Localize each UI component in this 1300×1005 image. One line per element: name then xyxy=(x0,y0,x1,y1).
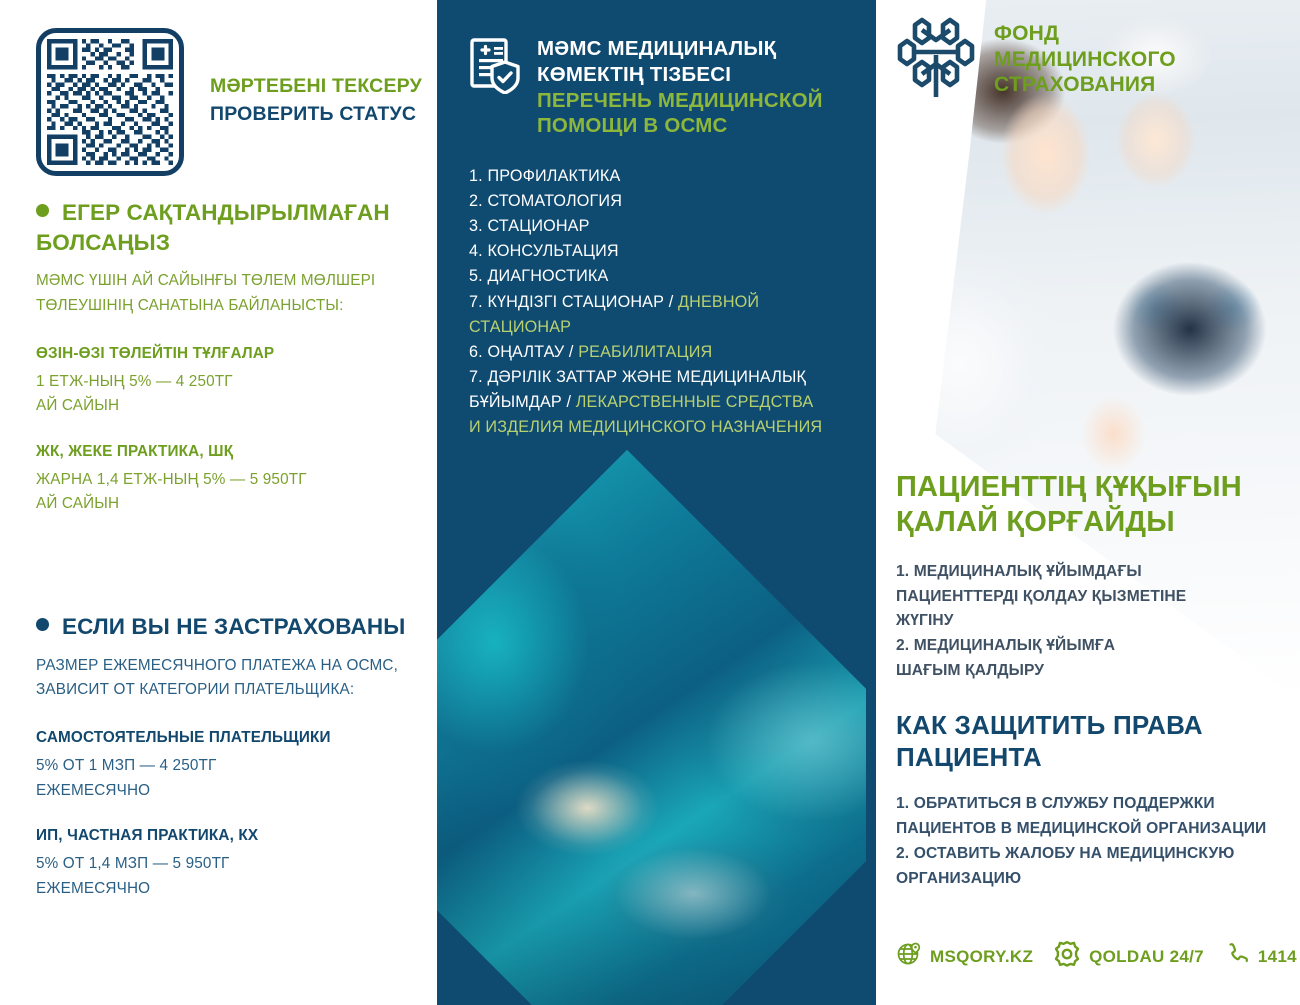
left-panel: МӘРТЕБЕНІ ТЕКСЕРУ ПРОВЕРИТЬ СТАТУС ЕГЕР … xyxy=(0,0,437,1005)
list-item-main: 5. ДИАГНОСТИКА xyxy=(469,267,608,285)
list-item: ПАЦИЕНТТЕРДІ ҚОЛДАУ ҚЫЗМЕТІНЕ xyxy=(896,585,1286,610)
section-heading-kk: ЕГЕР САҚТАНДЫРЫЛМАҒАН БОЛСАҢЫЗ xyxy=(36,198,428,257)
list-item: 7. ДӘРІЛІК ЗАТТАР ЖӘНЕ МЕДИЦИНАЛЫҚ xyxy=(469,365,859,390)
list-item-main: 3. СТАЦИОНАР xyxy=(469,217,590,235)
payment-group-period: ЕЖЕМЕСЯЧНО xyxy=(36,779,428,803)
fund-logo-line2: МЕДИЦИНСКОГО xyxy=(994,47,1176,73)
qr-labels: МӘРТЕБЕНІ ТЕКСЕРУ ПРОВЕРИТЬ СТАТУС xyxy=(210,72,422,133)
list-item-main: 6. ОҢАЛТАУ / xyxy=(469,343,578,361)
bullet-dot-icon xyxy=(36,618,49,631)
center-title-ru-line1: ПЕРЕЧЕНЬ МЕДИЦИНСКОЙ xyxy=(537,88,823,114)
payment-group-amount: 5% ОТ 1 МЗП — 4 250ТГ xyxy=(36,754,428,778)
list-item: ШАҒЫМ ҚАЛДЫРУ xyxy=(896,659,1286,684)
patient-rights-list-ru: 1. ОБРАТИТЬСЯ В СЛУЖБУ ПОДДЕРЖКИ ПАЦИЕНТ… xyxy=(896,792,1286,892)
center-panel-header: МӘМС МЕДИЦИНАЛЫҚ КӨМЕКТІҢ ТІЗБЕСІ ПЕРЕЧЕ… xyxy=(469,36,849,139)
list-item-alt: РЕАБИЛИТАЦИЯ xyxy=(578,343,712,361)
payment-group-title: САМОСТОЯТЕЛЬНЫЕ ПЛАТЕЛЬЩИКИ xyxy=(36,729,428,747)
medical-services-list: 1. ПРОФИЛАКТИКА 2. СТОМАТОЛОГИЯ 3. СТАЦИ… xyxy=(469,164,859,440)
qr-status-block: МӘРТЕБЕНІ ТЕКСЕРУ ПРОВЕРИТЬ СТАТУС xyxy=(36,28,422,176)
list-item: 7. КҮНДІЗГІ СТАЦИОНАР / ДНЕВНОЙ СТАЦИОНА… xyxy=(469,290,859,340)
contact-phone-label: 1414 xyxy=(1258,947,1297,967)
payment-group: САМОСТОЯТЕЛЬНЫЕ ПЛАТЕЛЬЩИКИ 5% ОТ 1 МЗП … xyxy=(36,729,428,803)
payment-group-period: АЙ САЙЫН xyxy=(36,394,428,418)
surgery-photo xyxy=(437,450,866,1005)
list-item: 1. ОБРАТИТЬСЯ В СЛУЖБУ ПОДДЕРЖКИ xyxy=(896,792,1286,817)
payment-group: ӨЗІН-ӨЗІ ТӨЛЕЙТІН ТҰЛҒАЛАР 1 ЕТЖ-НЫҢ 5% … xyxy=(36,345,428,419)
brochure-page: МӘРТЕБЕНІ ТЕКСЕРУ ПРОВЕРИТЬ СТАТУС ЕГЕР … xyxy=(0,0,1300,1005)
payment-group-title: ӨЗІН-ӨЗІ ТӨЛЕЙТІН ТҰЛҒАЛАР xyxy=(36,345,428,363)
fund-logo-line1: ФОНД xyxy=(994,21,1176,47)
bullet-dot-icon xyxy=(36,204,49,217)
list-item: ОРГАНИЗАЦИЮ xyxy=(896,867,1286,892)
center-title-kk-line1: МӘМС МЕДИЦИНАЛЫҚ xyxy=(537,36,823,62)
payment-group-title: ЖК, ЖЕКЕ ПРАКТИКА, ШҚ xyxy=(36,443,428,461)
list-item: ЖҮГІНУ xyxy=(896,609,1286,634)
fund-logo-line3: СТРАХОВАНИЯ xyxy=(994,72,1176,98)
list-item: 4. КОНСУЛЬТАЦИЯ xyxy=(469,239,859,264)
center-title-ru-line2: ПОМОЩИ В ОСМС xyxy=(537,113,823,139)
list-item: 2. МЕДИЦИНАЛЫҚ ҰЙЫМҒА xyxy=(896,634,1286,659)
list-item-main: 7. КҮНДІЗГІ СТАЦИОНАР / xyxy=(469,293,678,311)
payment-group-period: АЙ САЙЫН xyxy=(36,492,428,516)
uninsured-section-ru: ЕСЛИ ВЫ НЕ ЗАСТРАХОВАНЫ РАЗМЕР ЕЖЕМЕСЯЧН… xyxy=(36,612,428,925)
list-item-main: 1. ПРОФИЛАКТИКА xyxy=(469,167,620,185)
list-item: 2. СТОМАТОЛОГИЯ xyxy=(469,189,859,214)
list-item: 2. ОСТАВИТЬ ЖАЛОБУ НА МЕДИЦИНСКУЮ xyxy=(896,842,1286,867)
right-panel-edge-strip xyxy=(866,0,876,1005)
phone-icon xyxy=(1224,941,1250,972)
contact-footer: MSQORY.KZ QOLDAU 24/7 1414 xyxy=(896,940,1300,973)
list-item: 1. ПРОФИЛАКТИКА xyxy=(469,164,859,189)
list-item-main: 2. СТОМАТОЛОГИЯ xyxy=(469,192,622,210)
center-title-kk-line2: КӨМЕКТІҢ ТІЗБЕСІ xyxy=(537,62,823,88)
qr-code-icon[interactable] xyxy=(36,28,184,176)
contact-website[interactable]: MSQORY.KZ xyxy=(896,941,1033,972)
list-item: 1. МЕДИЦИНАЛЫҚ ҰЙЫМДАҒЫ xyxy=(896,560,1286,585)
payment-group: ЖК, ЖЕКЕ ПРАКТИКА, ШҚ ЖАРНА 1,4 ЕТЖ-НЫҢ … xyxy=(36,443,428,517)
center-panel: МӘМС МЕДИЦИНАЛЫҚ КӨМЕКТІҢ ТІЗБЕСІ ПЕРЕЧЕ… xyxy=(437,0,866,1005)
section-heading-ru: ЕСЛИ ВЫ НЕ ЗАСТРАХОВАНЫ xyxy=(36,612,428,642)
contact-support[interactable]: QOLDAU 24/7 xyxy=(1053,940,1204,973)
patient-rights-list-kk: 1. МЕДИЦИНАЛЫҚ ҰЙЫМДАҒЫ ПАЦИЕНТТЕРДІ ҚОЛ… xyxy=(896,560,1286,685)
globe-icon xyxy=(896,941,922,972)
contact-support-label: QOLDAU 24/7 xyxy=(1089,947,1204,967)
list-item-main: БҰЙЫМДАР / xyxy=(469,393,576,411)
surgery-photo-image xyxy=(437,450,866,1005)
list-item-alt: И ИЗДЕЛИЯ МЕДИЦИНСКОГО НАЗНАЧЕНИЯ xyxy=(469,418,822,436)
payment-group-period: ЕЖЕМЕСЯЧНО xyxy=(36,877,428,901)
qr-label-kk: МӘРТЕБЕНІ ТЕКСЕРУ xyxy=(210,72,422,100)
list-item: БҰЙЫМДАР / ЛЕКАРСТВЕННЫЕ СРЕДСТВА xyxy=(469,390,859,415)
payment-group-title: ИП, ЧАСТНАЯ ПРАКТИКА, КХ xyxy=(36,827,428,845)
uninsured-section-kk: ЕГЕР САҚТАНДЫРЫЛМАҒАН БОЛСАҢЫЗ МӘМС ҮШІН… xyxy=(36,198,428,541)
patient-rights-block: ПАЦИЕНТТІҢ ҚҰҚЫҒЫН ҚАЛАЙ ҚОРҒАЙДЫ 1. МЕД… xyxy=(896,470,1286,891)
payment-group-amount: 5% ОТ 1,4 МЗП — 5 950ТГ xyxy=(36,852,428,876)
contact-website-label: MSQORY.KZ xyxy=(930,947,1033,967)
payment-group-amount: 1 ЕТЖ-НЫҢ 5% — 4 250ТГ xyxy=(36,370,428,394)
contact-phone[interactable]: 1414 xyxy=(1224,941,1297,972)
payment-group-amount: ЖАРНА 1,4 ЕТЖ-НЫҢ 5% — 5 950ТГ xyxy=(36,468,428,492)
qr-label-ru: ПРОВЕРИТЬ СТАТУС xyxy=(210,100,422,128)
section-heading-kk-text: ЕГЕР САҚТАНДЫРЫЛМАҒАН БОЛСАҢЫЗ xyxy=(36,200,390,255)
medical-document-shield-icon xyxy=(469,38,521,99)
fund-logo-text: ФОНД МЕДИЦИНСКОГО СТРАХОВАНИЯ xyxy=(994,21,1176,98)
list-item: И ИЗДЕЛИЯ МЕДИЦИНСКОГО НАЗНАЧЕНИЯ xyxy=(469,415,859,440)
list-item-main: 7. ДӘРІЛІК ЗАТТАР ЖӘНЕ МЕДИЦИНАЛЫҚ xyxy=(469,368,806,386)
list-item: ПАЦИЕНТОВ В МЕДИЦИНСКОЙ ОРГАНИЗАЦИИ xyxy=(896,817,1286,842)
list-item-main: 4. КОНСУЛЬТАЦИЯ xyxy=(469,242,619,260)
section-intro-ru: РАЗМЕР ЕЖЕМЕСЯЧНОГО ПЛАТЕЖА НА ОСМС, ЗАВ… xyxy=(36,654,428,704)
right-panel: ФОНД МЕДИЦИНСКОГО СТРАХОВАНИЯ ПАЦИЕНТТІҢ… xyxy=(866,0,1300,1005)
fund-snowflake-logo-icon xyxy=(896,14,976,105)
section-heading-ru-text: ЕСЛИ ВЫ НЕ ЗАСТРАХОВАНЫ xyxy=(62,614,405,639)
list-item-alt: ЛЕКАРСТВЕННЫЕ СРЕДСТВА xyxy=(576,393,814,411)
list-item: 6. ОҢАЛТАУ / РЕАБИЛИТАЦИЯ xyxy=(469,340,859,365)
list-item: 3. СТАЦИОНАР xyxy=(469,214,859,239)
fund-logo-block: ФОНД МЕДИЦИНСКОГО СТРАХОВАНИЯ xyxy=(896,14,1176,105)
section-intro-kk: МӘМС ҮШІН АЙ САЙЫНҒЫ ТӨЛЕМ МӨЛШЕРІ ТӨЛЕУ… xyxy=(36,269,428,319)
payment-group: ИП, ЧАСТНАЯ ПРАКТИКА, КХ 5% ОТ 1,4 МЗП —… xyxy=(36,827,428,901)
gear-icon xyxy=(1053,940,1081,973)
list-item: 5. ДИАГНОСТИКА xyxy=(469,264,859,289)
center-panel-title: МӘМС МЕДИЦИНАЛЫҚ КӨМЕКТІҢ ТІЗБЕСІ ПЕРЕЧЕ… xyxy=(537,36,823,139)
patient-rights-heading-ru: КАК ЗАЩИТИТЬ ПРАВА ПАЦИЕНТА xyxy=(896,710,1286,773)
patient-rights-heading-kk: ПАЦИЕНТТІҢ ҚҰҚЫҒЫН ҚАЛАЙ ҚОРҒАЙДЫ xyxy=(896,470,1286,540)
